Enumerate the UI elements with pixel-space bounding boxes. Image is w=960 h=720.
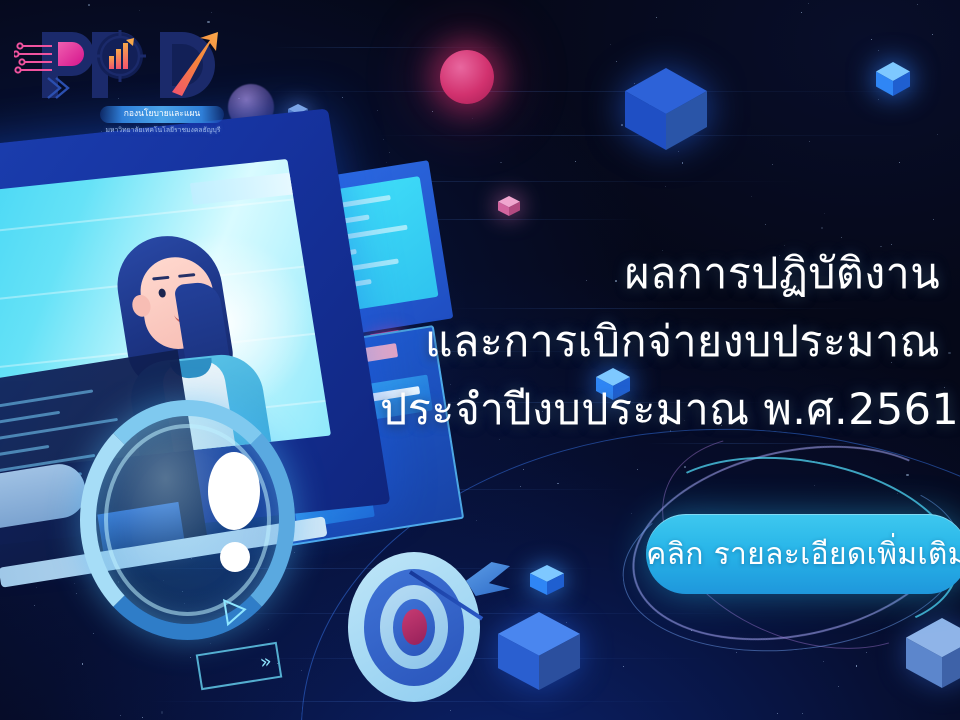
title-line-2: และการเบิกจ่ายงบประมาณ	[380, 308, 940, 376]
title-line-3: ประจำปีงบประมาณ พ.ศ.2561	[380, 376, 940, 444]
title-line-1: ผลการปฏิบัติงาน	[380, 240, 940, 308]
shard-decoration-upper-right	[876, 62, 910, 96]
page-title: ผลการปฏิบัติงาน และการเบิกจ่ายงบประมาณ ป…	[380, 240, 940, 444]
banner-canvas: ✕	[0, 0, 960, 720]
logo-division-label: กองนโยบายและแผน	[100, 106, 224, 123]
magnifier-exclamation-icon	[80, 400, 295, 640]
logo[interactable]: กองนโยบายและแผน มหาวิทยาลัยเทคโนโลยีราชม…	[14, 22, 226, 122]
pdp-logo-mark	[14, 22, 226, 100]
cta-area: คลิก รายละเอียดเพิ่มเติม	[612, 440, 960, 640]
logo-university-label: มหาวิทยาลัยเทคโนโลยีราชมงคลธัญบุรี	[94, 124, 232, 135]
dartboard-target-icon	[348, 552, 480, 702]
play-icon[interactable]	[220, 594, 250, 628]
more-details-button[interactable]: คลิก รายละเอียดเพิ่มเติม	[646, 514, 960, 594]
pink-sphere-decoration	[440, 50, 494, 104]
cube-decoration-top	[625, 68, 707, 150]
